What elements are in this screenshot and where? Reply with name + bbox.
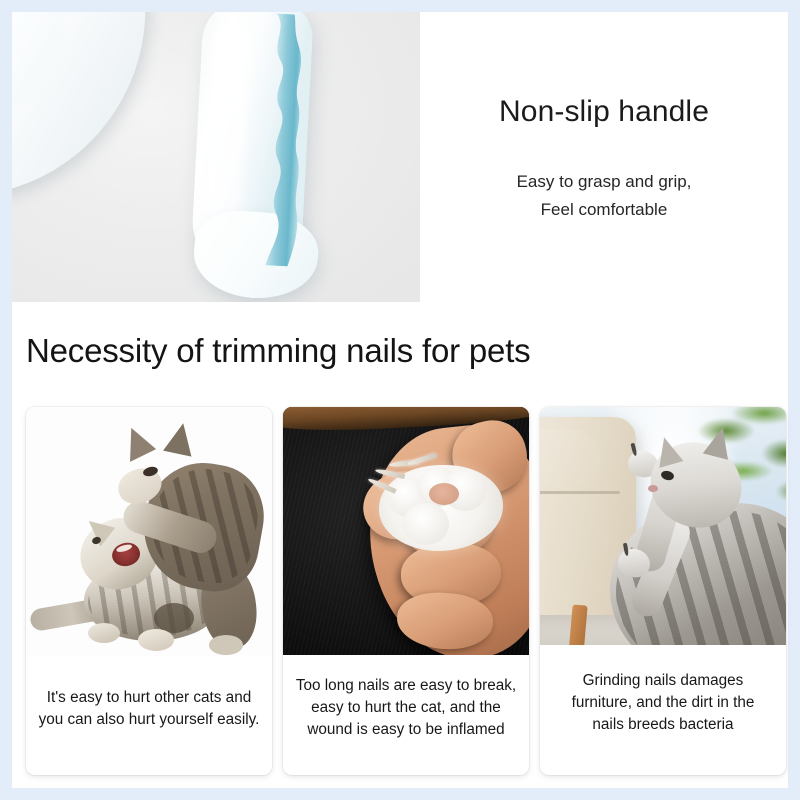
feature-subtitle-line-2: Feel comfortable bbox=[541, 200, 668, 219]
reason-card-caption: Grinding nails damages furniture, and th… bbox=[540, 645, 786, 775]
caption-line-1: Too long nails are easy to break, bbox=[296, 675, 516, 697]
cat-paw-long-nails-photo bbox=[283, 407, 529, 655]
paw-toe bbox=[403, 503, 449, 545]
caption-line-2: easy to hurt the cat, and the bbox=[296, 697, 516, 719]
reason-card: Too long nails are easy to break, easy t… bbox=[283, 407, 529, 775]
kittens-scene bbox=[26, 407, 272, 657]
cat-scratching-furniture-photo bbox=[540, 407, 786, 645]
armchair-arm bbox=[540, 429, 600, 485]
paw-pad bbox=[429, 483, 459, 505]
reason-card-caption: Too long nails are easy to break, easy t… bbox=[283, 655, 529, 775]
paw-scene bbox=[283, 407, 529, 655]
feature-title: Non-slip handle bbox=[499, 94, 709, 130]
feature-subtitle-line-1: Easy to grasp and grip, bbox=[517, 172, 692, 191]
caption-line-3: wound is easy to be inflamed bbox=[296, 719, 516, 741]
top-copy-block: Non-slip handle Easy to grasp and grip, … bbox=[420, 12, 788, 302]
caption-line-3: nails breeds bacteria bbox=[572, 714, 755, 736]
reason-card: Grinding nails damages furniture, and th… bbox=[540, 407, 786, 775]
product-handle-photo bbox=[12, 12, 420, 302]
section-heading: Necessity of trimming nails for pets bbox=[26, 312, 786, 390]
top-feature-section: Non-slip handle Easy to grasp and grip, … bbox=[12, 12, 788, 302]
caption-line-2: you can also hurt yourself easily. bbox=[39, 709, 260, 731]
reason-card-row: It's easy to hurt other cats and you can… bbox=[26, 407, 786, 777]
reason-card-caption: It's easy to hurt other cats and you can… bbox=[26, 657, 272, 775]
armchair-seam bbox=[540, 491, 620, 494]
caption-line-2: furniture, and the dirt in the bbox=[572, 692, 755, 714]
caption-line-1: Grinding nails damages bbox=[572, 670, 755, 692]
kitten-paw-front bbox=[138, 629, 174, 651]
kitten-paw-rear bbox=[88, 623, 120, 643]
reason-card: It's easy to hurt other cats and you can… bbox=[26, 407, 272, 775]
scratching-scene bbox=[540, 407, 786, 645]
feature-subtitle: Easy to grasp and grip, Feel comfortable bbox=[517, 168, 692, 223]
infographic-sheet: Non-slip handle Easy to grasp and grip, … bbox=[12, 12, 788, 788]
kittens-fighting-photo bbox=[26, 407, 272, 657]
caption-line-1: It's easy to hurt other cats and bbox=[39, 687, 260, 709]
kitten-standing-paw bbox=[209, 635, 243, 655]
cat-nose bbox=[648, 485, 658, 492]
product-infographic: Non-slip handle Easy to grasp and grip, … bbox=[0, 0, 800, 800]
